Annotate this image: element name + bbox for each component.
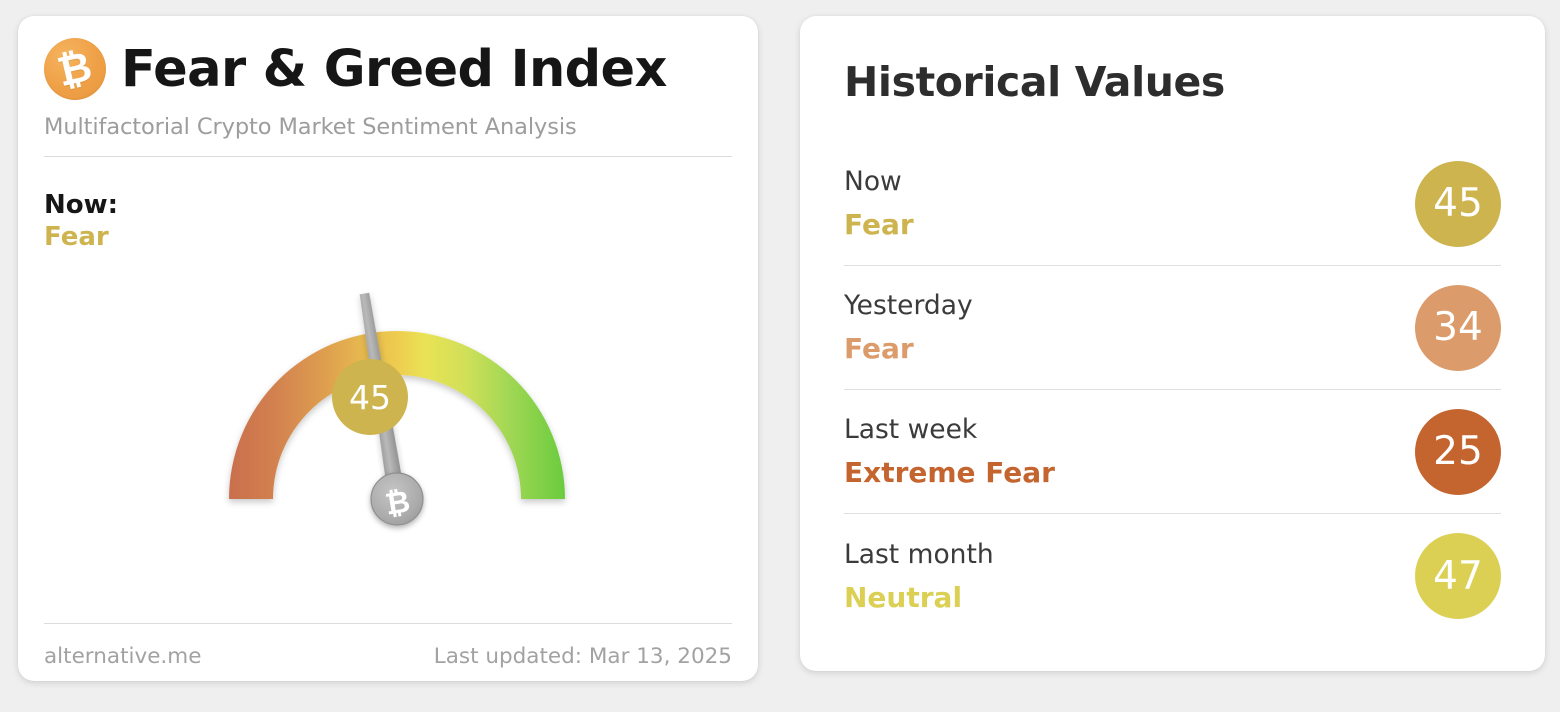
fear-greed-widget: ₿ Fear & Greed Index Multifactorial Cryp… xyxy=(0,0,1560,712)
history-value-badge: 47 xyxy=(1415,533,1501,619)
history-value-text: 25 xyxy=(1433,429,1483,474)
history-row-text: Last week Extreme Fear xyxy=(844,414,1055,489)
header-divider xyxy=(44,156,732,157)
history-period: Last month xyxy=(844,539,994,570)
history-card: Historical Values Now Fear 45 Yesterday … xyxy=(800,16,1545,671)
history-row-text: Yesterday Fear xyxy=(844,290,973,365)
bitcoin-icon: ₿ xyxy=(44,38,106,100)
footer-divider xyxy=(44,623,732,624)
history-list: Now Fear 45 Yesterday Fear 34 Last wee xyxy=(844,142,1501,638)
history-row-last-month: Last month Neutral 47 xyxy=(844,514,1501,638)
history-row-last-week: Last week Extreme Fear 25 xyxy=(844,390,1501,514)
history-title: Historical Values xyxy=(844,16,1501,106)
gauge-value-bubble: 45 xyxy=(332,359,408,435)
card-footer: alternative.me Last updated: Mar 13, 202… xyxy=(44,644,732,669)
history-value-badge: 34 xyxy=(1415,285,1501,371)
history-period: Yesterday xyxy=(844,290,973,321)
history-classification: Extreme Fear xyxy=(844,456,1055,489)
history-row-now: Now Fear 45 xyxy=(844,142,1501,266)
card-header: ₿ Fear & Greed Index xyxy=(44,16,732,100)
history-period: Now xyxy=(844,166,914,197)
history-period: Last week xyxy=(844,414,1055,445)
history-classification: Fear xyxy=(844,208,914,241)
gauge-value-text: 45 xyxy=(349,378,391,417)
history-row-text: Now Fear xyxy=(844,166,914,241)
source-link[interactable]: alternative.me xyxy=(44,644,201,669)
gauge-chart: 45 xyxy=(44,181,732,611)
history-value-text: 47 xyxy=(1433,554,1483,599)
history-classification: Neutral xyxy=(844,581,994,614)
gauge-hub: ₿ xyxy=(371,473,423,525)
history-row-text: Last month Neutral xyxy=(844,539,994,614)
history-value-badge: 25 xyxy=(1415,409,1501,495)
history-value-text: 45 xyxy=(1433,181,1483,226)
gauge-card: ₿ Fear & Greed Index Multifactorial Cryp… xyxy=(18,16,758,681)
page-title: Fear & Greed Index xyxy=(121,44,667,95)
history-row-yesterday: Yesterday Fear 34 xyxy=(844,266,1501,390)
page-subtitle: Multifactorial Crypto Market Sentiment A… xyxy=(44,114,732,140)
history-value-badge: 45 xyxy=(1415,161,1501,247)
history-classification: Fear xyxy=(844,332,973,365)
history-value-text: 34 xyxy=(1433,305,1483,350)
last-updated-label: Last updated: Mar 13, 2025 xyxy=(434,644,732,669)
bitcoin-glyph: ₿ xyxy=(54,45,96,92)
